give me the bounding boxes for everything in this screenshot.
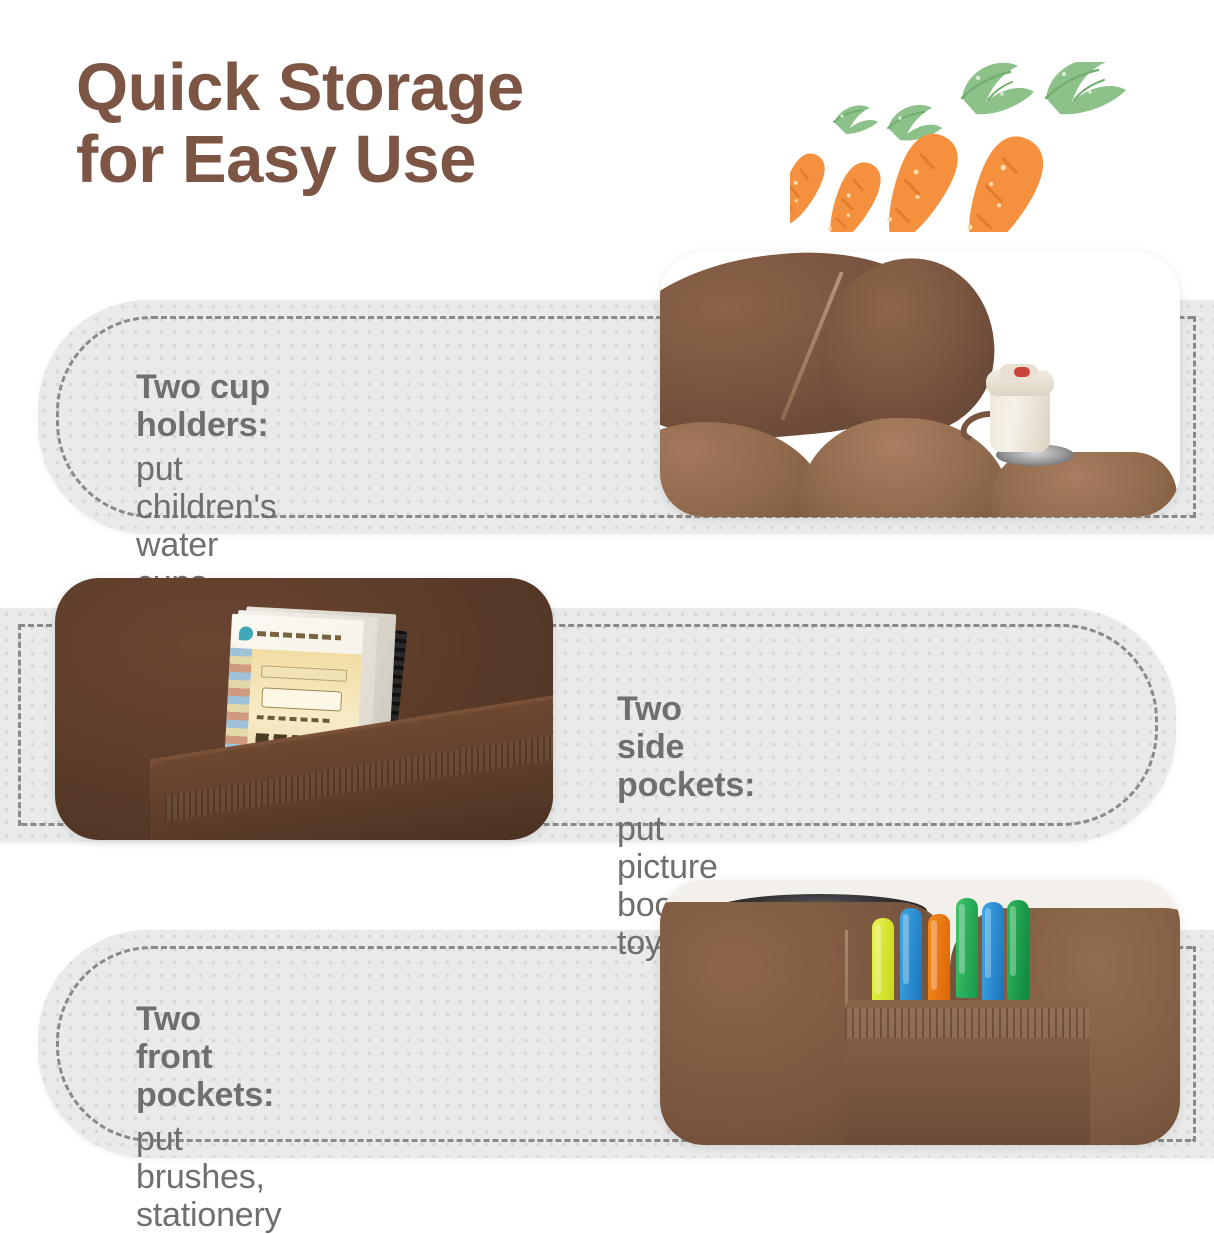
feature-title-cup-holders: Two cup holders: — [136, 368, 277, 444]
feature-title-side-pockets: Two side pockets: — [617, 690, 755, 804]
feature-text-front-pockets: Two front pockets: put brushes, statione… — [136, 1000, 281, 1234]
marker-orange — [928, 914, 950, 1014]
marker-green — [956, 898, 978, 998]
book-cover-banner — [261, 687, 342, 711]
feature-photo-cup-holders — [660, 252, 1180, 517]
marker-blue — [900, 908, 922, 1008]
front-pocket-elastic — [845, 1008, 1090, 1038]
page-title: Quick Storage for Easy Use — [76, 52, 776, 197]
feature-subtitle-front-pockets: put brushes, stationery — [136, 1120, 281, 1234]
book-title-lines — [257, 631, 341, 640]
feature-photo-front-pockets — [660, 880, 1180, 1145]
carrots-icon — [790, 62, 1150, 232]
feature-text-cup-holders: Two cup holders: put children's water cu… — [136, 368, 277, 602]
feature-photo-side-pockets — [55, 578, 553, 840]
book-publisher-logo — [239, 626, 254, 641]
feature-title-front-pockets: Two front pockets: — [136, 1000, 281, 1114]
sippy-cup-button — [1014, 367, 1030, 377]
marker-blue-2 — [982, 902, 1004, 1002]
marker-green-2 — [1007, 900, 1029, 1000]
